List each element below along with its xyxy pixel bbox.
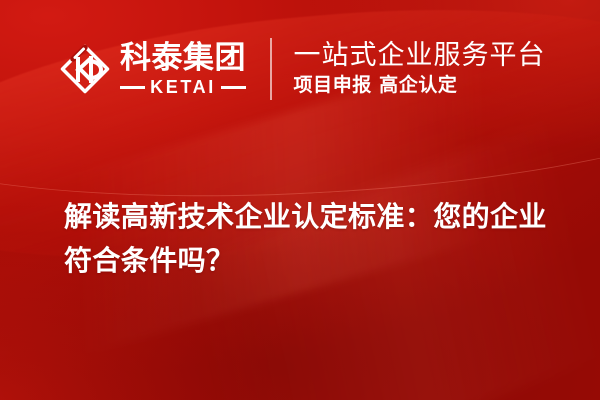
promo-banner: 科泰集团 KETAI 一站式企业服务平台 项目申报 高企认定 解读高新技术企业认… (0, 0, 600, 400)
header-vertical-divider (270, 38, 272, 100)
ketai-diamond-kd-monogram-icon (60, 44, 110, 94)
tagline-block: 一站式企业服务平台 项目申报 高企认定 (294, 42, 546, 95)
brand-wordmark: 科泰集团 KETAI (120, 42, 246, 97)
banner-header: 科泰集团 KETAI 一站式企业服务平台 项目申报 高企认定 (60, 38, 546, 100)
brand-name-en-row: KETAI (120, 78, 246, 96)
brand-name-en: KETAI (150, 78, 216, 96)
brand-name-cn: 科泰集团 (120, 42, 246, 75)
brand-logo[interactable]: 科泰集团 KETAI (60, 42, 246, 97)
tagline-secondary: 项目申报 高企认定 (294, 76, 546, 96)
tagline-primary: 一站式企业服务平台 (294, 42, 546, 70)
banner-headline: 解读高新技术企业认定标准：您的企业符合条件吗？ (64, 195, 569, 283)
wordmark-dash-left (120, 86, 145, 89)
wordmark-dash-right (221, 86, 246, 89)
